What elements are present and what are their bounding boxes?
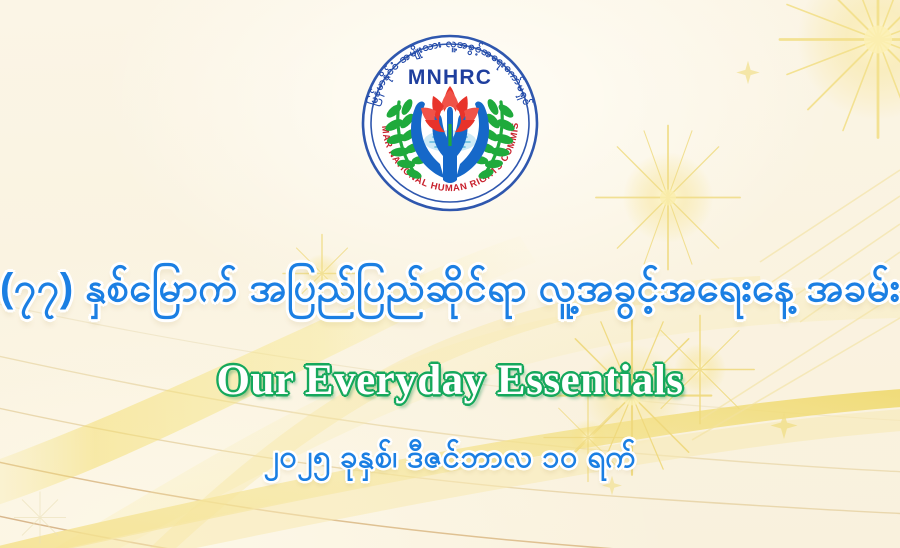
logo-acronym: MNHRC — [408, 66, 492, 89]
event-theme-subtitle: Our Everyday Essentials — [0, 356, 900, 405]
event-date: ၂၀၂၅ ခုနှစ်၊ ဒီဇင်ဘာလ ၁၀ ရက် — [0, 437, 900, 483]
mnhrc-logo: မြန်မာနိုင်ငံ အမျိုးသား လူ့အခွင့်အရေးကော… — [355, 28, 545, 218]
event-headline: (၇၇) နှစ်မြောက် အပြည်ပြည်ဆိုင်ရာ လူ့အခွင… — [0, 266, 900, 310]
mnhrc-emblem-icon: မြန်မာနိုင်ငံ အမျိုးသား လူ့အခွင့်အရေးကော… — [355, 28, 545, 218]
ceremony-banner: မြန်မာနိုင်ငံ အမျိုးသား လူ့အခွင့်အရေးကော… — [0, 0, 900, 548]
